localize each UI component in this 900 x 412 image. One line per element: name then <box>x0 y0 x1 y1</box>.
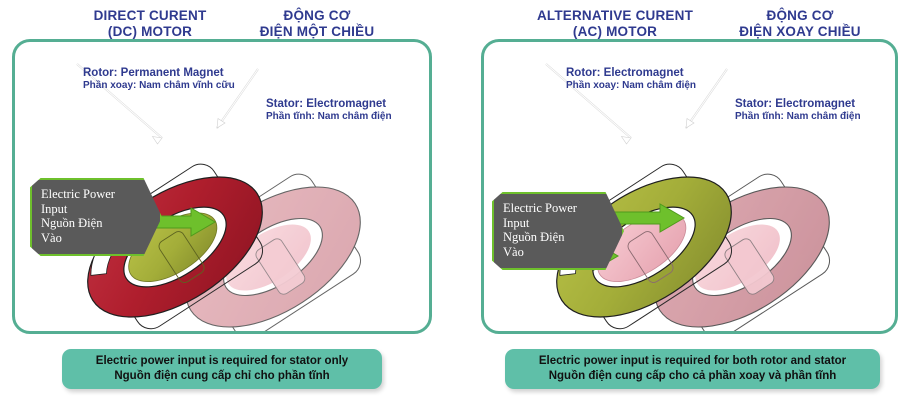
dc-heading-english: DIRECT CURENT (DC) MOTOR <box>60 8 240 39</box>
diagram-canvas: DIRECT CURENT (DC) MOTOR ĐỘNG CƠ ĐIỆN MỘ… <box>0 0 900 412</box>
ac-stator-label-vi: Phần tĩnh: Nam châm điện <box>735 111 861 123</box>
ac-caption-vi: Nguồn điện cung cấp cho cả phần xoay và … <box>549 369 837 384</box>
dc-heading-vietnamese: ĐỘNG CƠ ĐIỆN MỘT CHIỀU <box>222 8 412 39</box>
dc-electric-power-callout: Electric Power Input Nguồn Điện Vào <box>30 178 162 256</box>
ac-stator-annotation: Stator: Electromagnet Phần tĩnh: Nam châ… <box>735 98 861 123</box>
dc-rotor-label-vi: Phần xoay: Nam châm vĩnh cữu <box>83 80 235 92</box>
dc-caption-en: Electric power input is required for sta… <box>96 354 348 369</box>
dc-caption-bar: Electric power input is required for sta… <box>62 349 382 389</box>
dc-rotor-label-en: Rotor: Permanent Magnet <box>83 67 235 80</box>
dc-stator-label-en: Stator: Electromagnet <box>266 98 392 111</box>
ac-motor-panel: Rotor: Electromagnet Phần xoay: Nam châm… <box>481 39 898 334</box>
ac-caption-bar: Electric power input is required for bot… <box>505 349 880 389</box>
ac-rotor-annotation: Rotor: Electromagnet Phần xoay: Nam châm… <box>566 67 696 92</box>
ac-heading-english: ALTERNATIVE CURENT (AC) MOTOR <box>515 8 715 39</box>
ac-heading-vietnamese: ĐỘNG CƠ ĐIỆN XOAY CHIỀU <box>705 8 895 39</box>
dc-stator-annotation: Stator: Electromagnet Phần tĩnh: Nam châ… <box>266 98 392 123</box>
dc-rotor-annotation: Rotor: Permanent Magnet Phần xoay: Nam c… <box>83 67 235 92</box>
ac-callout-text: Electric Power Input Nguồn Điện Vào <box>503 201 611 259</box>
ac-caption-en: Electric power input is required for bot… <box>539 354 846 369</box>
dc-stator-label-vi: Phần tĩnh: Nam châm điện <box>266 111 392 123</box>
ac-electric-power-callout: Electric Power Input Nguồn Điện Vào <box>492 192 624 270</box>
dc-callout-text: Electric Power Input Nguồn Điện Vào <box>41 187 149 245</box>
dc-caption-vi: Nguồn điện cung cấp chỉ cho phần tĩnh <box>114 369 329 384</box>
ac-rotor-label-en: Rotor: Electromagnet <box>566 67 696 80</box>
ac-rotor-label-vi: Phần xoay: Nam châm điện <box>566 80 696 92</box>
ac-stator-label-en: Stator: Electromagnet <box>735 98 861 111</box>
